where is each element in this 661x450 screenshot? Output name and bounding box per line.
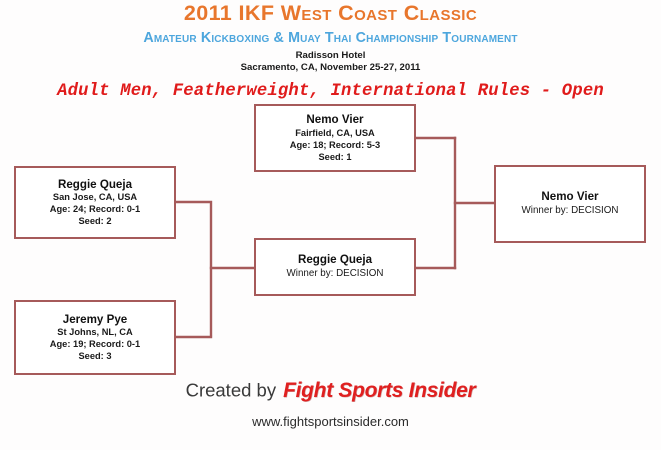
competitor-location: Fairfield, CA, USA	[295, 127, 375, 139]
brand-logo-text: Fight Sports Insider	[276, 379, 475, 402]
division-title: Adult Men, Featherweight, International …	[0, 75, 661, 100]
final-winner-name: Nemo Vier	[541, 190, 598, 204]
created-by-label: Created by	[186, 379, 277, 400]
semifinal-winner-method: Winner by: DECISION	[287, 267, 384, 281]
competitor-stats: Age: 24; Record: 0-1	[50, 203, 140, 215]
bracket-competitor-reggie-queja[interactable]: Reggie Queja San Jose, CA, USA Age: 24; …	[14, 166, 176, 239]
competitor-name: Reggie Queja	[58, 178, 132, 192]
footer-website: www.fightsportsinsider.com	[0, 414, 661, 430]
event-subtitle: Amateur Kickboxing & Muay Thai Champions…	[0, 25, 661, 45]
final-winner-method: Winner by: DECISION	[522, 204, 619, 218]
bracket-competitor-nemo-vier[interactable]: Nemo Vier Fairfield, CA, USA Age: 18; Re…	[254, 104, 416, 172]
bracket-result-semifinal[interactable]: Reggie Queja Winner by: DECISION	[254, 238, 416, 296]
bracket-result-final[interactable]: Nemo Vier Winner by: DECISION	[494, 165, 646, 243]
competitor-location: St Johns, NL, CA	[57, 326, 132, 338]
event-title: 2011 IKF West Coast Classic	[0, 0, 661, 25]
competitor-seed: Seed: 1	[318, 151, 351, 163]
website-url[interactable]: www.fightsportsinsider.com	[252, 414, 409, 429]
venue-name: Radisson Hotel	[0, 45, 661, 63]
connector-r1-mid-out	[176, 202, 211, 335]
competitor-name: Jeremy Pye	[63, 313, 127, 327]
competitor-name: Nemo Vier	[306, 113, 363, 127]
competitor-location: San Jose, CA, USA	[53, 191, 137, 203]
competitor-stats: Age: 18; Record: 5-3	[290, 139, 380, 151]
tournament-bracket-page: 2011 IKF West Coast Classic Amateur Kick…	[0, 0, 661, 450]
bracket-competitor-jeremy-pye[interactable]: Jeremy Pye St Johns, NL, CA Age: 19; Rec…	[14, 300, 176, 375]
venue-location-date: Sacramento, CA, November 25-27, 2011	[0, 62, 661, 75]
competitor-seed: Seed: 2	[78, 215, 111, 227]
semifinal-winner-name: Reggie Queja	[298, 253, 372, 267]
competitor-stats: Age: 19; Record: 0-1	[50, 338, 140, 350]
competitor-seed: Seed: 3	[78, 350, 111, 362]
event-header: 2011 IKF West Coast Classic Amateur Kick…	[0, 0, 661, 100]
footer-credit: Created byFight Sports Insider	[0, 380, 661, 401]
